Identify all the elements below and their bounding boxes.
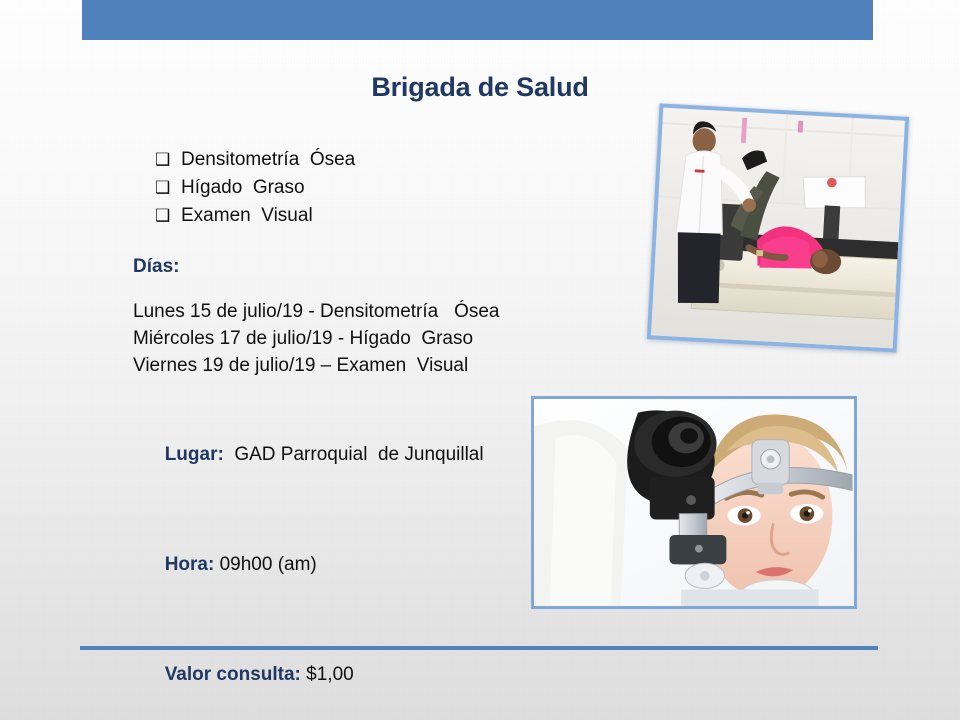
schedule-line: Miércoles 17 de julio/19 - Hígado Graso	[133, 325, 603, 352]
valor-consulta-value: $1,00	[301, 664, 354, 685]
page-title: Brigada de Salud	[0, 72, 960, 103]
lugar-label: Lugar:	[165, 444, 224, 465]
header-accent-bar	[82, 0, 873, 40]
dias-label: Días	[133, 256, 173, 277]
lugar-value: GAD Parroquial de Junquillal	[224, 444, 484, 465]
bottom-divider	[80, 646, 878, 650]
list-item-label: Hígado Graso	[181, 174, 305, 202]
eye-exam-illustration	[534, 399, 854, 606]
dias-schedule-list: Lunes 15 de julio/19 - Densitometría Óse…	[133, 298, 603, 379]
bone-densitometry-illustration	[651, 108, 905, 349]
valor-consulta-label: Valor consulta:	[165, 664, 301, 685]
list-item: ❑ Hígado Graso	[155, 174, 575, 202]
hora-label: Hora:	[165, 554, 215, 575]
schedule-line: Viernes 19 de julio/19 – Examen Visual	[133, 352, 603, 379]
services-bullet-list: ❑ Densitometría Ósea ❑ Hígado Graso ❑ Ex…	[155, 146, 575, 230]
dias-colon: :	[173, 256, 179, 277]
dias-heading: Días:	[133, 252, 603, 282]
list-item: ❑ Examen Visual	[155, 202, 575, 230]
hollow-square-bullet-icon: ❑	[155, 146, 181, 174]
eye-exam-photo-content	[534, 399, 854, 606]
bone-densitometry-photo	[647, 103, 909, 352]
list-item-label: Examen Visual	[181, 202, 313, 230]
list-item-label: Densitometría Ósea	[181, 146, 355, 174]
bone-densitometry-photo-content	[651, 108, 905, 349]
schedule-line: Lunes 15 de julio/19 - Densitometría Óse…	[133, 298, 603, 325]
hora-value: 09h00 (am)	[214, 554, 316, 575]
list-item: ❑ Densitometría Ósea	[155, 146, 575, 174]
eye-exam-photo	[531, 396, 857, 609]
hollow-square-bullet-icon: ❑	[155, 202, 181, 230]
slide-canvas: Brigada de Salud ❑ Densitometría Ósea ❑ …	[0, 0, 960, 720]
hollow-square-bullet-icon: ❑	[155, 174, 181, 202]
